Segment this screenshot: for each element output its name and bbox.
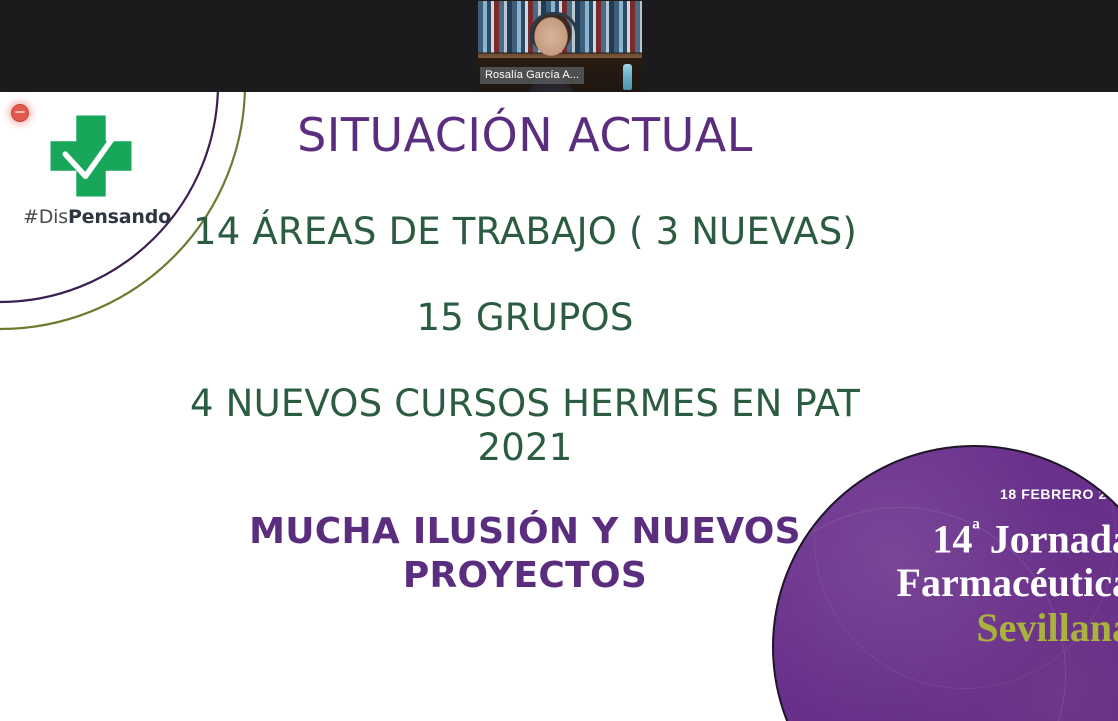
presentation-slide: #DisPensando SITUACIÓN ACTUAL 14 ÁREAS D… (0, 92, 1118, 721)
body-line-1: 14 ÁREAS DE TRABAJO ( 3 NUEVAS) (0, 210, 1050, 254)
participant-name-label: Rosalía García A... (480, 67, 584, 84)
body-line-2: 15 GRUPOS (0, 296, 1050, 340)
headset-icon (530, 12, 578, 48)
badge-line-3: Sevillana (832, 605, 1118, 651)
slide-title: SITUACIÓN ACTUAL (0, 107, 1050, 163)
badge-content: 18 FEBRERO 2021 14ª Jornada Farmacéutica… (832, 485, 1118, 651)
screen-root: Rosalía García A... #DisPensando SITUACI… (0, 0, 1118, 721)
body-line-3: 4 NUEVOS CURSOS HERMES EN PAT (0, 382, 1050, 426)
badge-line-1: 14ª Jornada (832, 509, 1118, 561)
badge-edition-number: 14 (932, 516, 972, 561)
video-conference-bar: Rosalía García A... (0, 0, 1118, 92)
jornada-badge: 18 FEBRERO 2021 14ª Jornada Farmacéutica… (772, 445, 1118, 721)
badge-line-2: Farmacéutica (832, 561, 1118, 605)
bottle-object (623, 64, 632, 90)
badge-ordinal-suffix: ª (972, 517, 979, 544)
participant-video-tile[interactable]: Rosalía García A... (478, 0, 642, 92)
badge-date: 18 FEBRERO 2021 (832, 485, 1118, 503)
badge-jornada-word: Jornada (990, 516, 1118, 561)
